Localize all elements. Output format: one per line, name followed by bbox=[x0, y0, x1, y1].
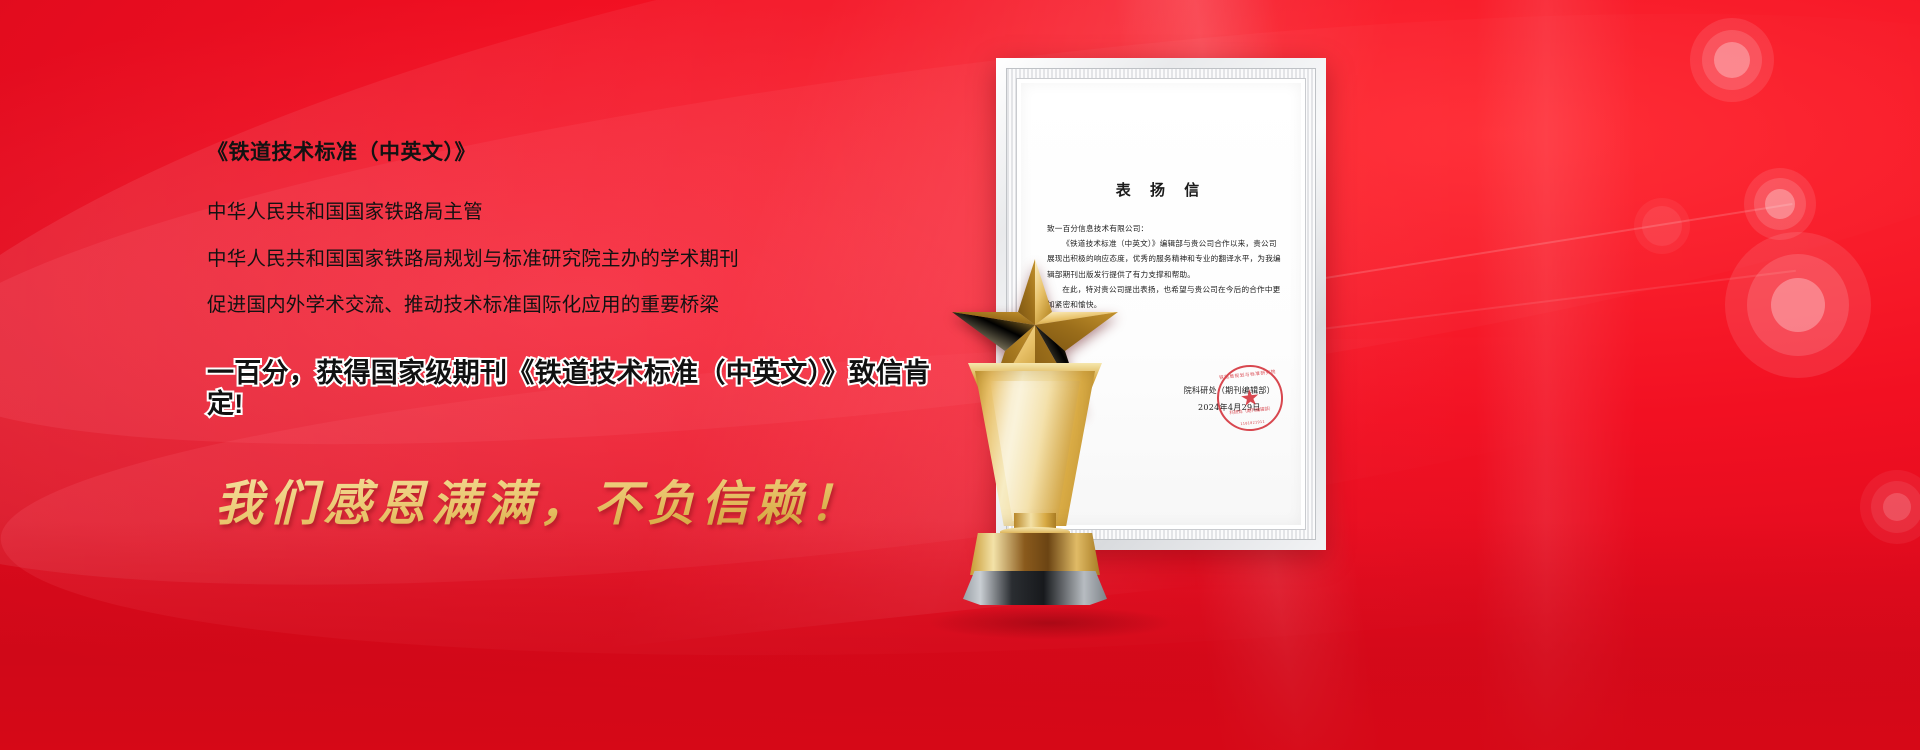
bokeh-circle-2 bbox=[1744, 168, 1816, 240]
seal-sub-text: 科研处（期刊编辑部） bbox=[1220, 405, 1282, 417]
description-line-1: 中华人民共和国国家铁路局主管 bbox=[207, 203, 967, 223]
trophy-ground-shadow bbox=[880, 600, 1220, 646]
description-line-2: 中华人民共和国国家铁路局规划与标准研究院主办的学术期刊 bbox=[207, 250, 967, 270]
official-red-seal: 铁路局规划与标准研究院 科研处（期刊编辑部） 1101021911 bbox=[1214, 362, 1287, 435]
gold-trophy bbox=[930, 255, 1140, 560]
bokeh-circle-4 bbox=[1634, 198, 1690, 254]
award-banner: 《铁道技术标准（中英文）》 中华人民共和国国家铁路局主管 中华人民共和国国家铁路… bbox=[0, 0, 1920, 750]
trophy-base-top bbox=[970, 533, 1100, 575]
seal-star-icon bbox=[1240, 388, 1260, 408]
text-content-block: 《铁道技术标准（中英文）》 中华人民共和国国家铁路局主管 中华人民共和国国家铁路… bbox=[207, 140, 967, 534]
calligraphy-slogan: 我们感恩满满，不负信赖！ bbox=[215, 464, 967, 534]
seal-arc-text: 铁路局规划与标准研究院 bbox=[1216, 369, 1278, 381]
seal-serial-number: 1101021911 bbox=[1222, 418, 1284, 428]
description-line-3: 促进国内外学术交流、推动技术标准国际化应用的重要桥梁 bbox=[207, 296, 967, 316]
bokeh-circle-3 bbox=[1725, 232, 1871, 378]
certificate-title: 表 扬 信 bbox=[1021, 179, 1301, 200]
certificate-salutation: 致一百分信息技术有限公司： bbox=[1047, 221, 1281, 236]
headline-text: 一百分，获得国家级期刊《铁道技术标准（中英文）》致信肯定! bbox=[207, 358, 967, 420]
trophy-base-bottom bbox=[963, 571, 1107, 605]
bokeh-circle-1 bbox=[1690, 18, 1774, 102]
journal-title: 《铁道技术标准（中英文）》 bbox=[207, 140, 967, 165]
